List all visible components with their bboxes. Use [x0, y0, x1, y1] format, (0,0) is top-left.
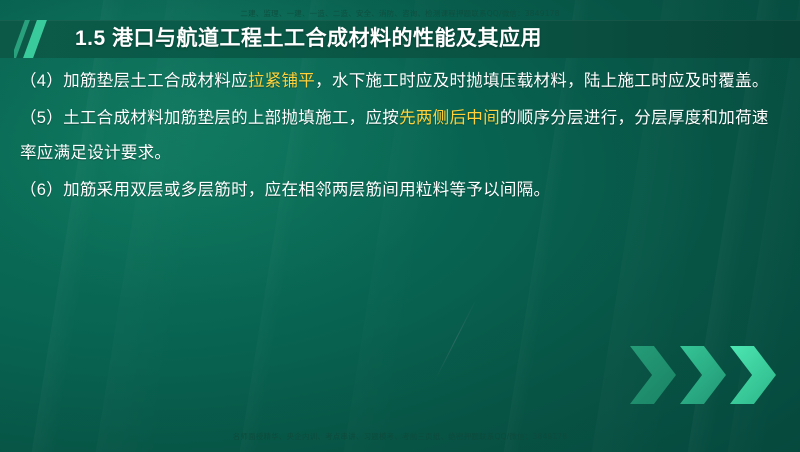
- faint-diagonal-mark: [435, 300, 477, 381]
- highlighted-term: 先两侧后中间: [399, 109, 500, 127]
- body-text: （5）土工合成材料加筋垫层的上部抛填施工，应按: [20, 109, 399, 127]
- title-bar: 1.5 港口与航道工程土工合成材料的性能及其应用: [0, 20, 800, 58]
- paragraph-item-5: （5）土工合成材料加筋垫层的上部抛填施工，应按先两侧后中间的顺序分层进行，分层厚…: [20, 101, 782, 171]
- slide-canvas: 二建、监理、一建、一造、二造、安全、消防、咨询、检测课程押题联系QQ/微信：38…: [0, 0, 800, 452]
- body-text: （4）加筋垫层土工合成材料应: [20, 72, 248, 90]
- body-text: （6）加筋采用双层或多层筋时，应在相邻两层筋间用粒料等予以间隔。: [20, 181, 550, 199]
- watermark-top: 二建、监理、一建、一造、二造、安全、消防、咨询、检测课程押题联系QQ/微信：38…: [0, 8, 800, 19]
- chevron-arrows-icon: [630, 346, 790, 404]
- paragraph-item-4: （4）加筋垫层土工合成材料应拉紧铺平，水下施工时应及时抛填压载材料，陆上施工时应…: [20, 64, 782, 99]
- watermark-bottom: 名师面授精华、央企内训、考点串讲、习题模考、考前三页纸、绝密押题联系QQ/微信：…: [0, 431, 800, 442]
- content-body: （4）加筋垫层土工合成材料应拉紧铺平，水下施工时应及时抛填压载材料，陆上施工时应…: [20, 64, 782, 210]
- highlighted-term: 拉紧铺平: [248, 72, 315, 90]
- slash-decoration-icon: [14, 20, 64, 58]
- paragraph-item-6: （6）加筋采用双层或多层筋时，应在相邻两层筋间用粒料等予以间隔。: [20, 173, 782, 208]
- body-text: ，水下施工时应及时抛填压载材料，陆上施工时应及时覆盖。: [315, 72, 769, 90]
- page-title: 1.5 港口与航道工程土工合成材料的性能及其应用: [75, 20, 542, 58]
